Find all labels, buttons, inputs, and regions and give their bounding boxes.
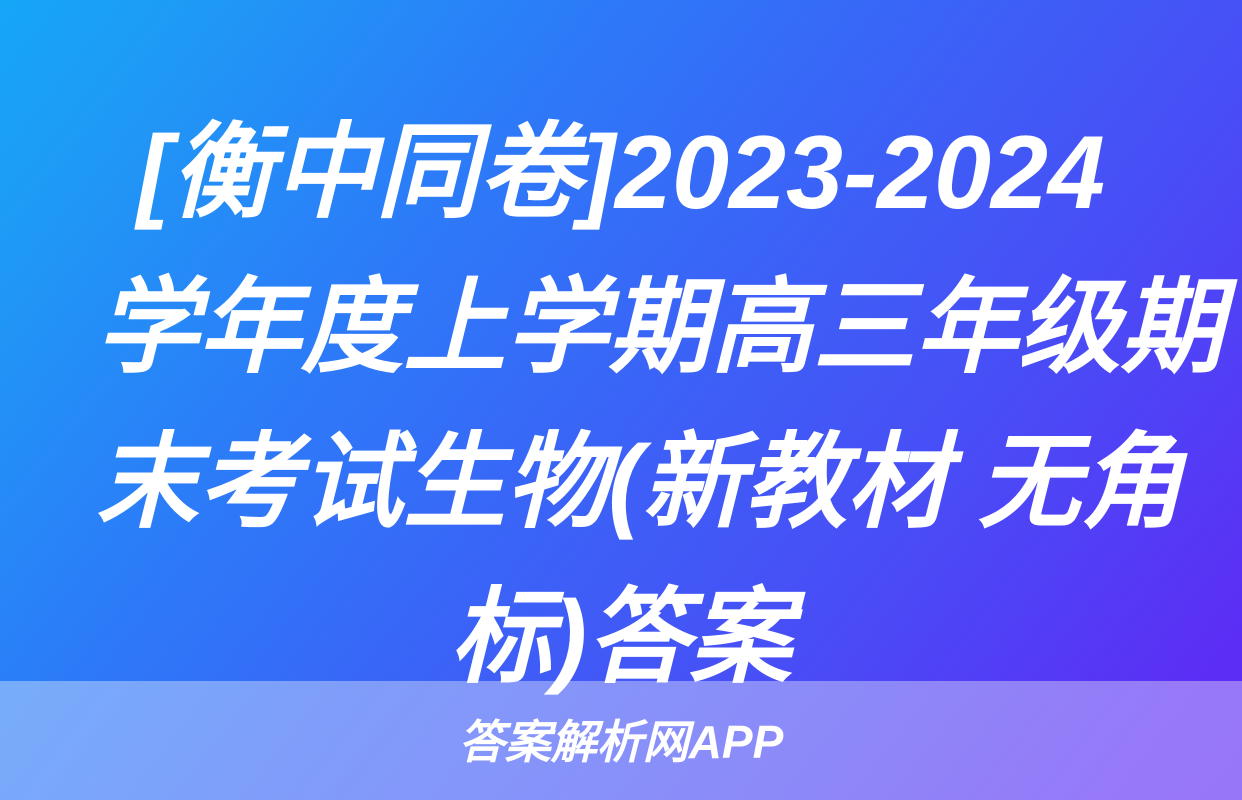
title-line-2: 学年度上学期高三年级期 [96, 251, 1146, 406]
title-line-3: 末考试生物(新教材 无角 [96, 406, 1146, 561]
title-block: [衡中同卷]2023-2024 学年度上学期高三年级期 末考试生物(新教材 无角… [0, 0, 1242, 681]
title-line-1: [衡中同卷]2023-2024 [96, 96, 1146, 251]
watermark-banner: 答案解析网APP [0, 681, 1242, 800]
poster-canvas: [衡中同卷]2023-2024 学年度上学期高三年级期 末考试生物(新教材 无角… [0, 0, 1242, 800]
watermark-label: 答案解析网APP [459, 716, 784, 768]
